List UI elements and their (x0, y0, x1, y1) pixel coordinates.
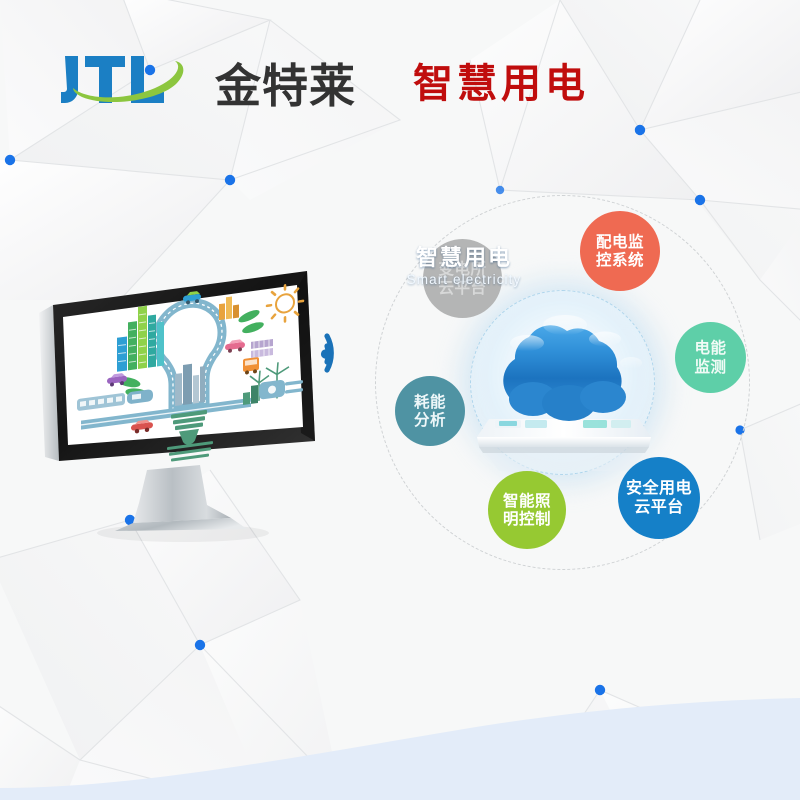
bubble-energy-consumption-analysis[interactable]: 耗能 分析 (395, 376, 465, 446)
bubble-substation-cloud-platform[interactable]: 变电所 云平台 (423, 239, 502, 318)
bubble-safe-electricity-cloud-platform[interactable]: 安全用电 云平台 (618, 457, 700, 539)
brand-logo[interactable]: 金特莱 (55, 42, 355, 112)
brand-name: 金特莱 (215, 63, 356, 109)
bubble-intelligent-lighting-control[interactable]: 智能照 明控制 (488, 471, 566, 549)
jtl-swoosh-logo-icon (55, 42, 195, 112)
bubble-distribution-line2: 控系统 (594, 251, 646, 269)
bubble-distribution-monitoring-system[interactable]: 配电监 控系统 (580, 211, 660, 291)
bubble-energy-line2: 监测 (692, 358, 728, 376)
desktop-monitor (35, 265, 335, 565)
bubble-consumption-line1: 耗能 (412, 393, 448, 411)
bubble-safety-line1: 安全用电 (624, 479, 694, 498)
bubble-energy-monitoring[interactable]: 电能 监测 (675, 322, 746, 393)
bubble-distribution-line1: 配电监 (594, 233, 646, 251)
bubble-substation-line1: 变电所 (436, 260, 488, 278)
bubble-consumption-line2: 分析 (412, 411, 448, 429)
bubble-lighting-line2: 明控制 (501, 510, 553, 528)
cloud-on-tablet-icon (465, 281, 663, 481)
page-slogan: 智慧用电 (413, 51, 589, 109)
bubble-lighting-line1: 智能照 (501, 492, 553, 510)
bubble-safety-line2: 云平台 (624, 498, 694, 517)
page-header: 金特莱 智慧用电 (0, 0, 800, 140)
bubble-substation-line2: 云平台 (436, 279, 488, 297)
bubble-energy-line1: 电能 (692, 339, 728, 357)
smart-electricity-diagram: 智慧用电 Smart electricity 变电所 云平台 配电监 控系统 电… (365, 185, 760, 580)
bottom-wave-decoration (0, 670, 800, 800)
